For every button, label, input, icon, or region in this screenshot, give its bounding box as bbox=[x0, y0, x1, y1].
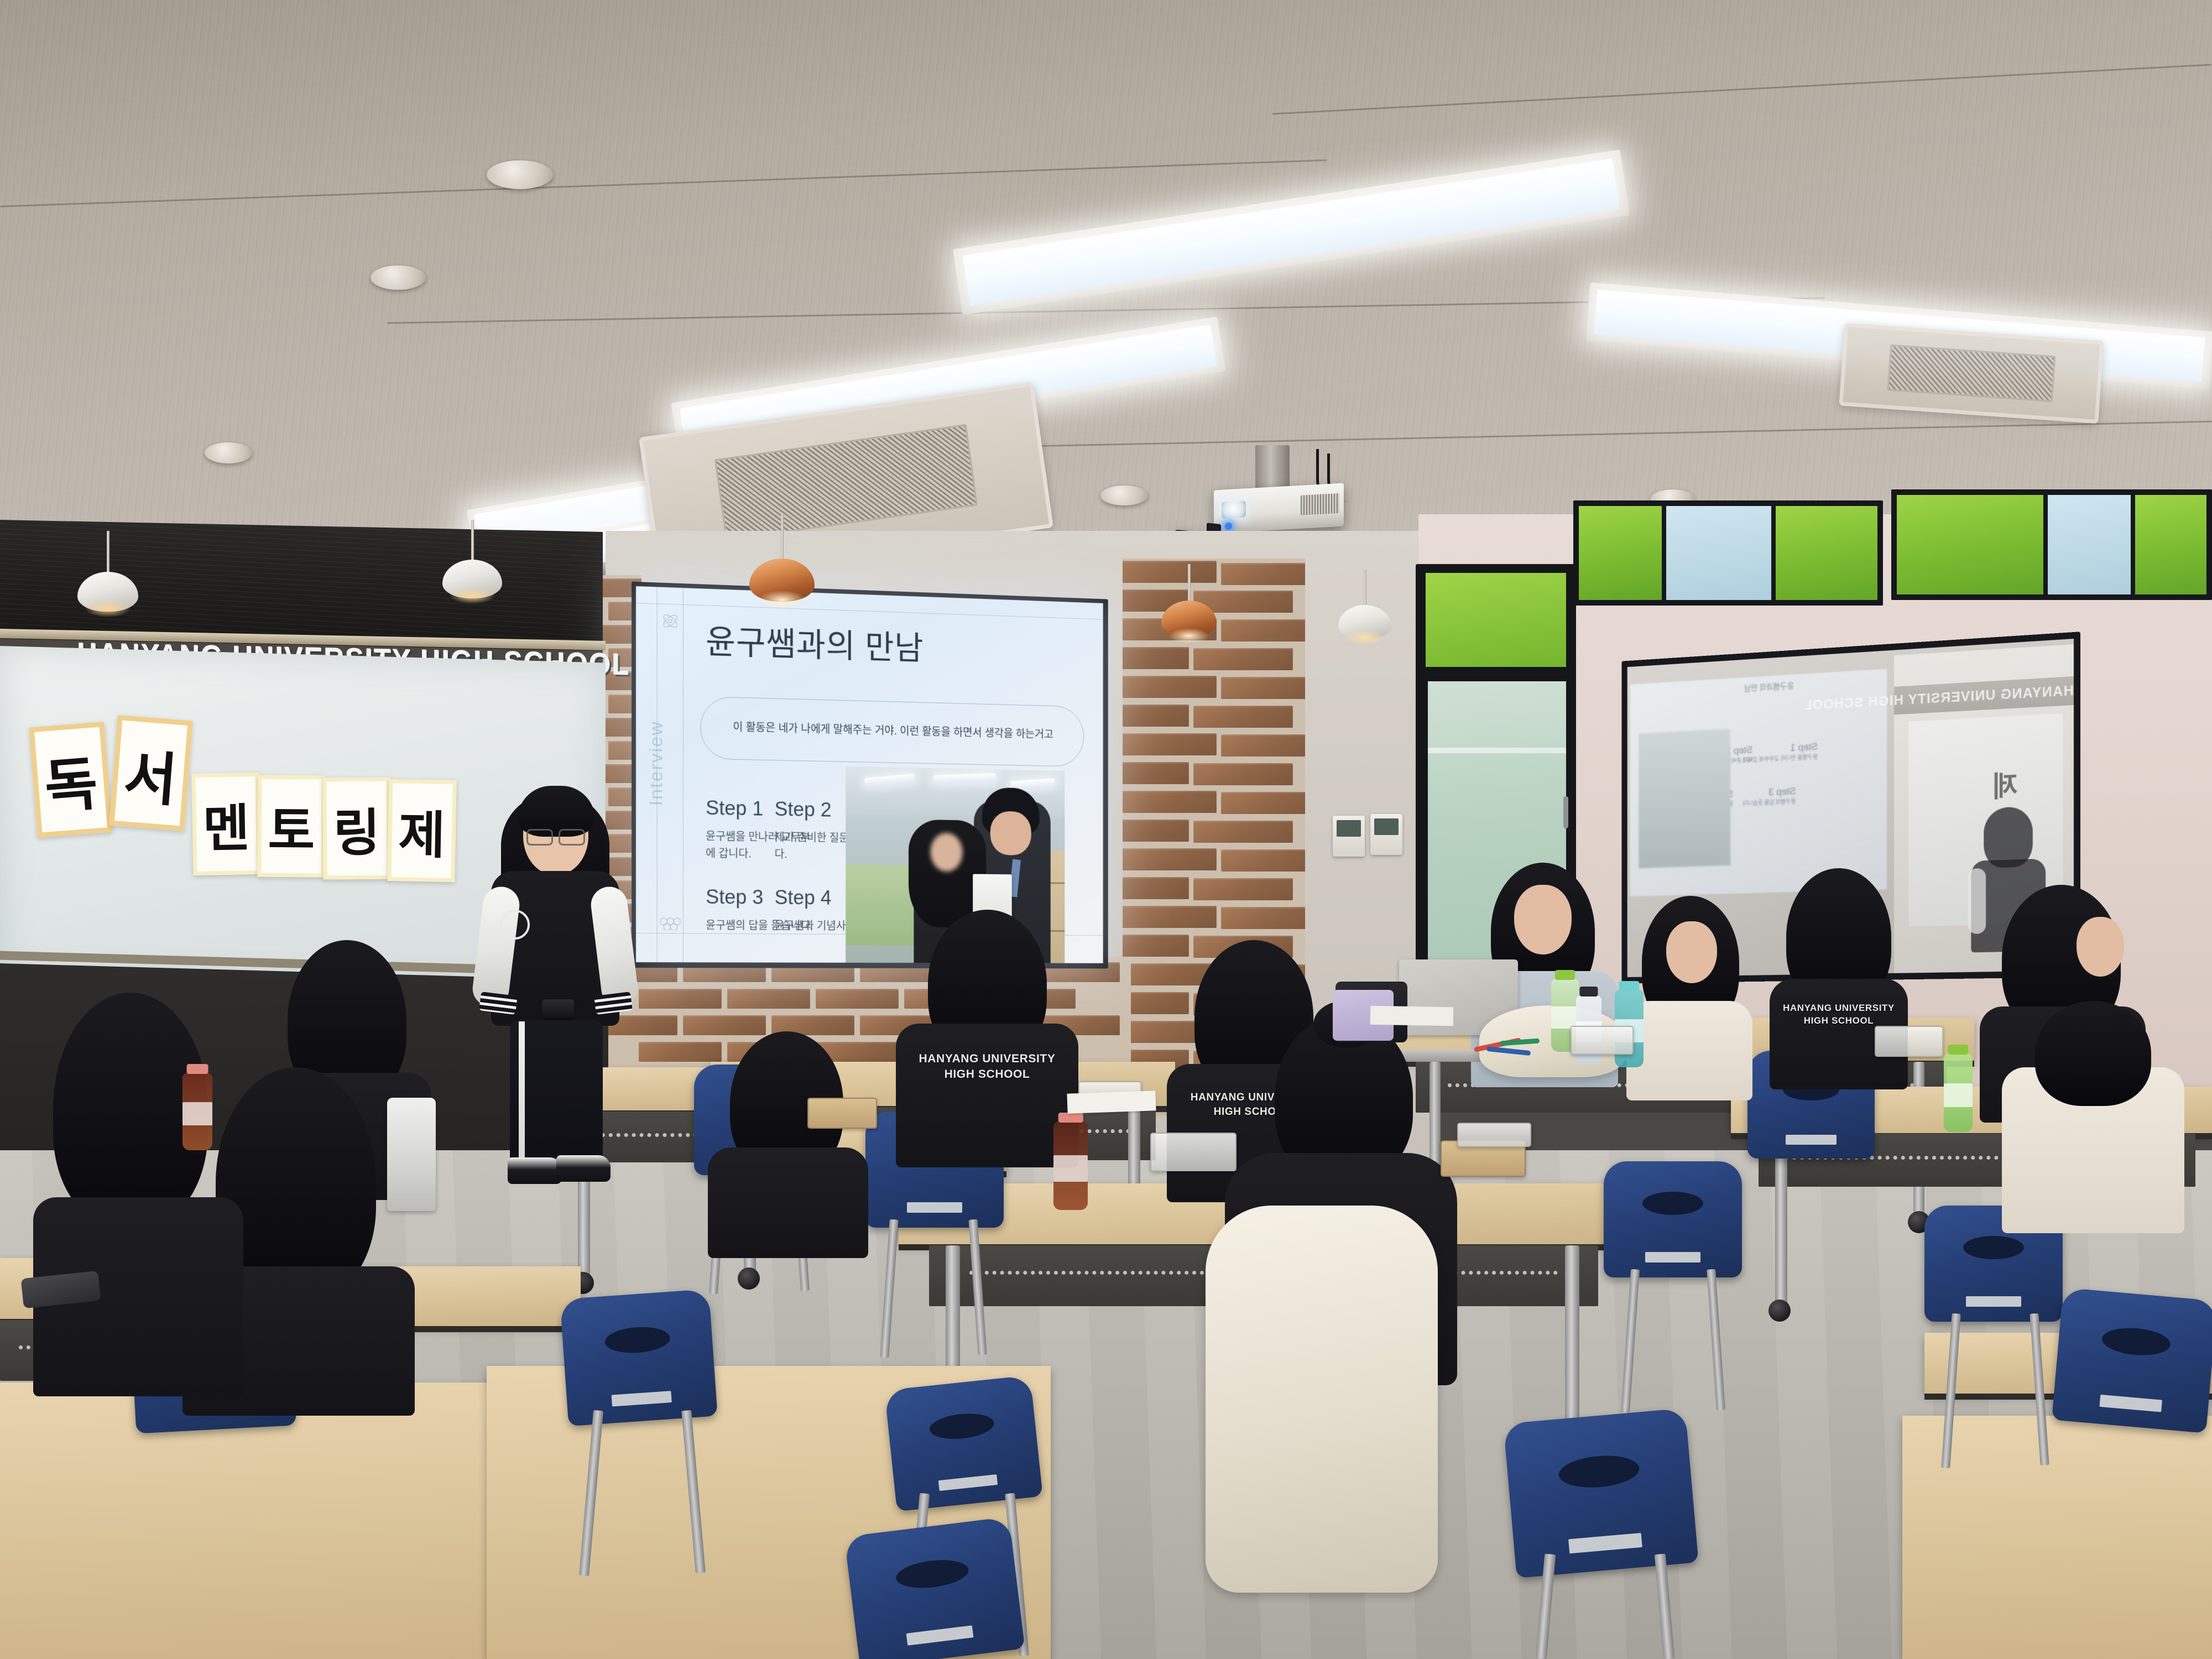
title-card: 서 bbox=[109, 715, 192, 831]
presenter-cuff bbox=[594, 992, 633, 1015]
smoke-detector-icon bbox=[487, 160, 553, 189]
uniform-line-3: HIGH SCHOOL bbox=[1804, 1015, 1874, 1026]
reflected-title-card: 제 bbox=[1992, 763, 2018, 805]
lunch-container[interactable] bbox=[1457, 1123, 1531, 1147]
reflected-slide-photo bbox=[1639, 729, 1730, 868]
title-card: 멘 bbox=[191, 773, 260, 875]
drink-bottle[interactable] bbox=[1053, 1121, 1088, 1210]
projector-mount bbox=[1255, 445, 1290, 491]
student-top bbox=[1626, 1001, 1752, 1100]
lunch-container[interactable] bbox=[1571, 1026, 1634, 1055]
pendant-lamp bbox=[749, 514, 815, 619]
drink-bottle[interactable] bbox=[182, 1073, 212, 1150]
table-leg bbox=[1775, 1134, 1787, 1305]
clerestory-window bbox=[1891, 489, 2212, 600]
ceiling bbox=[0, 0, 2212, 559]
lunch-container[interactable] bbox=[1875, 1026, 1943, 1057]
title-card: 토 bbox=[257, 775, 326, 877]
jacket-patch-icon bbox=[500, 910, 530, 940]
title-card: 제 bbox=[387, 779, 456, 882]
clerestory-window bbox=[1573, 500, 1883, 606]
smoke-detector-icon bbox=[371, 265, 426, 290]
student-hair bbox=[2035, 1001, 2151, 1106]
pendant-lamp bbox=[1161, 564, 1217, 656]
pendant-lamp bbox=[442, 520, 502, 618]
lunch-container[interactable] bbox=[807, 1098, 877, 1129]
student-uniform-jacket bbox=[708, 1147, 868, 1258]
chair[interactable] bbox=[1503, 1408, 1698, 1578]
chair[interactable] bbox=[2052, 1287, 2212, 1433]
uniform-line-2: UNIVERSITY bbox=[1835, 1003, 1895, 1013]
student-face bbox=[2077, 917, 2124, 977]
trouser-stripe bbox=[519, 1021, 525, 1161]
projection-screen: Interview 윤구쌤과의 만남 이 활동은 네가 나에게 말해주는 거야.… bbox=[636, 586, 1103, 963]
table-caster bbox=[1768, 1300, 1791, 1322]
student-face bbox=[1666, 921, 1717, 983]
slide-step: Step 4 윤구쌤과 기념사진 bbox=[775, 886, 856, 935]
hexagon-grid-icon bbox=[660, 916, 681, 933]
uniform-line-3: HIGH SCHOOL bbox=[945, 1068, 1030, 1081]
uniform-line-2: UNIVERSITY bbox=[982, 1052, 1055, 1065]
paper-sheet[interactable] bbox=[1370, 1006, 1454, 1026]
chair[interactable] bbox=[1604, 1161, 1742, 1277]
presenter bbox=[476, 782, 636, 1186]
paper-sheet[interactable] bbox=[1067, 1091, 1156, 1114]
presenter-cuff bbox=[479, 992, 518, 1015]
uniform-back-text: HANYANG UNIVERSITY HIGH SCHOOL bbox=[1780, 1002, 1898, 1027]
smoke-detector-icon bbox=[1100, 486, 1148, 505]
ac-wall-controller[interactable] bbox=[1333, 816, 1365, 857]
pendant-lamp bbox=[1338, 570, 1391, 658]
chair[interactable] bbox=[560, 1289, 717, 1426]
door-transom-glass bbox=[1426, 573, 1566, 667]
chair[interactable] bbox=[884, 1375, 1043, 1511]
title-card: 링 bbox=[322, 777, 391, 879]
shoe bbox=[556, 1155, 611, 1182]
tumbler[interactable] bbox=[387, 1098, 436, 1211]
smoke-detector-icon bbox=[205, 442, 252, 463]
student-uniform-jacket bbox=[896, 1024, 1078, 1167]
step-heading: Step 4 bbox=[775, 886, 856, 910]
uniform-line-1: HANYANG bbox=[1783, 1003, 1832, 1013]
presentation-slide: Interview 윤구쌤과의 만남 이 활동은 네가 나에게 말해주는 거야.… bbox=[636, 586, 1103, 963]
uniform-back-text: HANYANG UNIVERSITY HIGH SCHOOL bbox=[907, 1051, 1067, 1083]
step-desc: 윤구쌤과 기념사진 bbox=[775, 918, 856, 935]
slide-title: 윤구쌤과의 만남 bbox=[706, 615, 924, 669]
projector-lens-icon bbox=[1222, 500, 1246, 518]
student bbox=[2002, 1001, 2184, 1233]
student-face bbox=[1514, 885, 1572, 954]
reflected-step-desc: 윤구쌤의 답을 듣습니다. bbox=[1741, 797, 1796, 808]
uniform-line-1: HANYANG bbox=[919, 1052, 979, 1065]
smartphone[interactable] bbox=[542, 999, 574, 1018]
title-card: 독 bbox=[29, 722, 112, 838]
drink-bottle[interactable] bbox=[1944, 1053, 1973, 1132]
table-caster bbox=[738, 1267, 760, 1290]
student bbox=[708, 1031, 868, 1253]
glasses-icon bbox=[526, 829, 585, 843]
classroom-photo: HANYANG UNIVERSITY HIGH SCHOOL 독 서 멘 토 링… bbox=[0, 0, 2212, 1659]
ac-wall-controller[interactable] bbox=[1370, 814, 1402, 855]
door-handle-icon[interactable] bbox=[1563, 796, 1568, 828]
ceiling-projector bbox=[1214, 483, 1344, 533]
student bbox=[33, 993, 243, 1391]
student: HANYANG UNIVERSITY HIGH SCHOOL bbox=[896, 910, 1078, 1164]
slide-side-label: Interview bbox=[645, 711, 667, 816]
lunch-container[interactable] bbox=[1150, 1133, 1237, 1171]
chair[interactable] bbox=[844, 1517, 1025, 1659]
table-leg bbox=[1565, 1245, 1579, 1439]
shoe bbox=[508, 1157, 562, 1184]
draped-hoodie bbox=[1206, 1206, 1438, 1593]
pendant-lamp bbox=[77, 531, 138, 630]
projector-power-led-icon bbox=[1225, 523, 1232, 530]
atom-decoration-icon bbox=[661, 612, 680, 634]
